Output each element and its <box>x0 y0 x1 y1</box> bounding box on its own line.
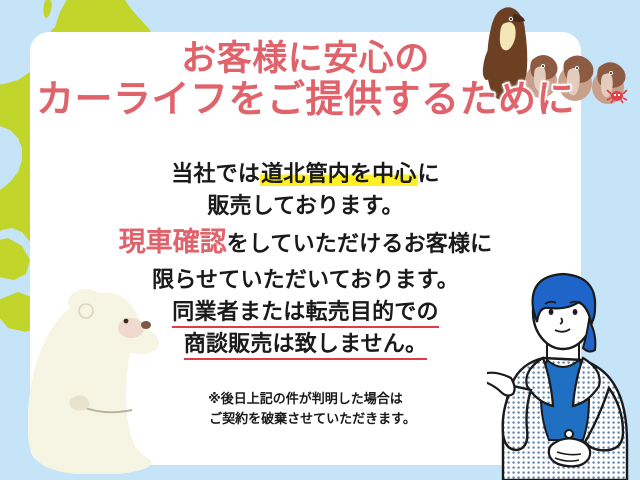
headline-line-2: カーライフをご提供するために <box>30 78 581 122</box>
crab-icon <box>606 86 628 104</box>
body-line-3: 現車確認をしていただけるお客様に <box>30 222 581 264</box>
headline-line-1: お客様に安心の <box>30 39 581 80</box>
footnote-line-1: ※後日上記の件が判明した場合は <box>30 389 581 409</box>
body-line-5: 同業者または転売目的での <box>30 296 581 328</box>
body-line-1-highlight: 道北管内を中心 <box>260 161 417 186</box>
text-content: お客様に安心の カーライフをご提供するために 当社では道北管内を中心に 販売して… <box>30 32 581 465</box>
body-line-4: 限らせていただいております。 <box>30 264 581 296</box>
body-line-1-suffix: に <box>418 161 440 186</box>
body-line-5-underlined: 同業者または転売目的での <box>172 299 438 328</box>
body-line-1: 当社では道北管内を中心に <box>30 158 581 190</box>
body-line-6-underlined: 商談販売は致しません。 <box>184 331 428 360</box>
body-line-6: 商談販売は致しません。 <box>30 328 581 360</box>
body-line-2: 販売しております。 <box>30 190 581 222</box>
body-text: 当社では道北管内を中心に 販売しております。 現車確認をしていただけるお客様に … <box>30 158 581 360</box>
body-line-3-accent: 現車確認 <box>119 227 227 257</box>
banner-canvas: お客様に安心の カーライフをご提供するために 当社では道北管内を中心に 販売して… <box>0 0 640 480</box>
footnote: ※後日上記の件が判明した場合は ご契約を破棄させていただきます。 <box>30 389 581 429</box>
footnote-line-2: ご契約を破棄させていただきます。 <box>30 409 581 429</box>
body-line-3-rest: をしていただけるお客様に <box>227 231 493 256</box>
body-line-1-prefix: 当社では <box>171 161 260 186</box>
headline: お客様に安心の カーライフをご提供するために <box>30 39 581 122</box>
